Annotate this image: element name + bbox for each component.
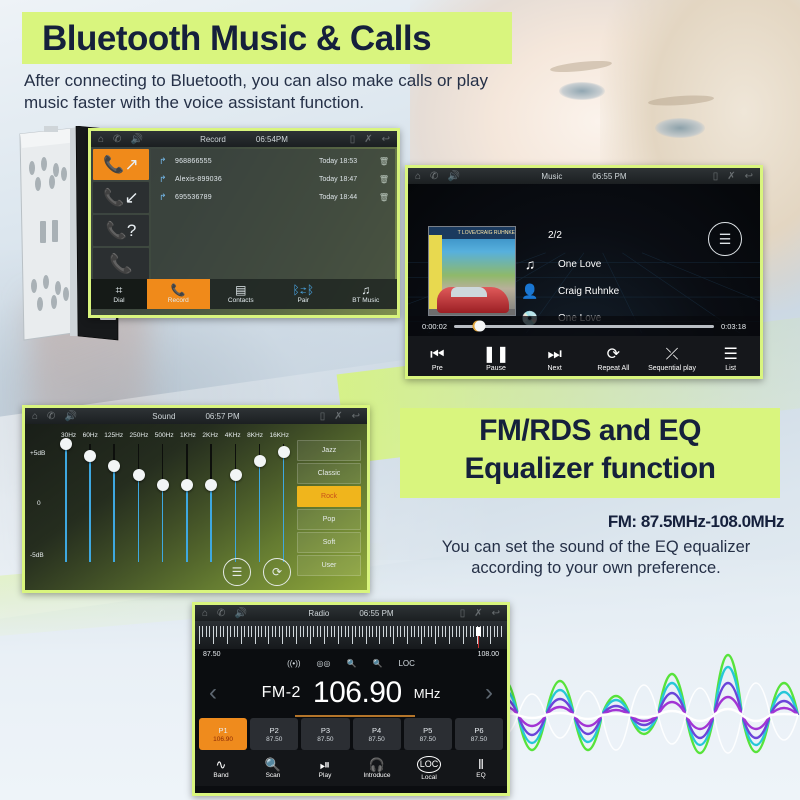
tuning-tick: [487, 626, 488, 637]
eq-slider-4khz[interactable]: [231, 444, 241, 562]
preset-p4[interactable]: P4 87.50: [353, 718, 401, 750]
phone-missed-icon: 📞?: [106, 221, 137, 241]
eq-band-label: 1KHz: [180, 432, 196, 439]
sliders-icon: ⦀: [478, 758, 484, 771]
tuning-tick: [421, 626, 422, 644]
table-row[interactable]: ↱ 695536789 Today 18:44 🗑: [151, 188, 395, 206]
eq-slider-250hz[interactable]: [134, 444, 144, 562]
preset-p4-freq: 87.50: [368, 736, 384, 743]
tuning-tick: [345, 626, 346, 637]
back-icon[interactable]: ↩: [745, 171, 753, 182]
radio-screen: ⌂ ✆ 🔊 Radio 06:55 PM ▯ ✗ ↩ 87.50 108.00 …: [192, 602, 510, 796]
eq-band-label: 4KHz: [225, 432, 241, 439]
call-record-icon: 📞: [171, 284, 186, 296]
mute-icon[interactable]: ✗: [727, 171, 735, 182]
tuning-tick: [435, 626, 436, 644]
repeat-label: Repeat All: [597, 365, 629, 372]
music-screen-time: 06:55 PM: [592, 172, 626, 181]
sound-equalizer-screen: ⌂ ✆ 🔊 Sound 06:57 PM ▯ ✗ ↩ 30Hz 60Hz 125…: [22, 405, 370, 593]
tuning-tick: [411, 626, 412, 637]
tuning-tick: [293, 626, 294, 637]
preset-p4-label: P4: [372, 726, 381, 735]
tuning-tick: [320, 626, 321, 637]
equalizer-button[interactable]: ☰: [708, 222, 742, 256]
mute-icon[interactable]: ✗: [474, 608, 482, 619]
eq-axis-max: +5dB: [30, 450, 45, 457]
equalizer-icon: ☰: [719, 231, 732, 248]
tuning-tick: [300, 626, 301, 637]
loc-icon: LOC: [417, 756, 442, 773]
tuning-tick: [355, 626, 356, 637]
tuning-tick: [213, 626, 214, 644]
frequency-range: 87.50 108.00: [195, 649, 507, 658]
freq-max: 108.00: [478, 651, 499, 658]
phone-icon[interactable]: ✆: [113, 134, 121, 145]
tuning-tick: [369, 626, 370, 637]
tuning-scale[interactable]: [195, 621, 507, 649]
battery-icon: ▯: [350, 134, 356, 145]
tuning-tick: [331, 626, 332, 637]
call-log-list: ↱ 968866555 Today 18:53 🗑 ↱ Alexis-89903…: [151, 149, 395, 279]
tuning-tick: [275, 626, 276, 637]
outgoing-calls-button[interactable]: 📞↗: [93, 149, 149, 180]
tab-bt-music[interactable]: ♫ BT Music: [335, 279, 398, 309]
tuning-tick: [223, 626, 224, 637]
freq-min: 87.50: [203, 651, 221, 658]
pause-icon: ❚❚: [483, 347, 510, 363]
search-icon: 🔍: [265, 758, 281, 771]
battery-icon: ▯: [713, 171, 719, 182]
track-counter: 2/2: [548, 230, 562, 241]
tab-dial[interactable]: ⌗ Dial: [91, 279, 147, 309]
tuning-tick: [379, 626, 380, 644]
frequency-value: 106.90: [313, 676, 402, 710]
tuning-tick: [227, 626, 228, 644]
play-pause-icon: ⏯: [320, 758, 330, 771]
eq-band-label: 125Hz: [104, 432, 123, 439]
tuning-tick: [407, 626, 408, 644]
tuning-tick: [313, 626, 314, 637]
tuning-tick: [445, 626, 446, 637]
tuning-tick: [317, 626, 318, 637]
album-art-title: T LOVE/CRAIG RUHNKE: [429, 227, 516, 239]
radio-indicator-row: ((•)) ◎◎ 🔍 🔍 LOC: [195, 659, 507, 668]
tuning-tick: [400, 626, 401, 637]
tab-contacts-label: Contacts: [228, 297, 254, 304]
tuning-tick: [424, 626, 425, 637]
radio-screen-time: 06:55 PM: [359, 609, 393, 618]
band-label: FM-2: [262, 684, 301, 702]
tuning-tick: [341, 626, 342, 637]
battery-icon: ▯: [320, 411, 326, 422]
tuning-tick: [449, 626, 450, 644]
tuning-tick: [470, 626, 471, 637]
tuning-tick: [490, 626, 491, 644]
call-number: 968866555: [175, 158, 319, 165]
tuning-tick: [289, 626, 290, 637]
preset-jazz[interactable]: Jazz: [297, 440, 361, 461]
eq-slider-1khz[interactable]: [182, 444, 192, 562]
tuning-tick: [279, 626, 280, 637]
preset-scroll-indicator: [295, 715, 415, 717]
mute-icon[interactable]: ✗: [334, 411, 342, 422]
fmrds-paragraph: You can set the sound of the EQ equalize…: [408, 537, 784, 579]
phone-icon[interactable]: ✆: [217, 608, 225, 619]
preset-p5[interactable]: P5 87.50: [404, 718, 452, 750]
tuning-tick: [199, 626, 200, 644]
eq-band-label: 500Hz: [155, 432, 174, 439]
phone-icon[interactable]: ✆: [430, 171, 438, 182]
tuning-tick: [359, 626, 360, 637]
tab-bt-music-label: BT Music: [352, 297, 379, 304]
call-filter-buttons: 📞↗ 📞↙ 📞? 📞: [91, 147, 149, 279]
background-eye-right: [655, 118, 705, 138]
tuning-tick: [431, 626, 432, 637]
tuning-tick: [251, 626, 252, 637]
artist-icon: 👤: [520, 283, 540, 300]
elapsed-time: 0:00:02: [422, 322, 447, 331]
previous-button[interactable]: ⏮ Pre: [408, 347, 467, 372]
eq-band-label: 2KHz: [202, 432, 218, 439]
music-statusbar: ⌂ ✆ 🔊 Music 06:55 PM ▯ ✗ ↩: [408, 168, 760, 184]
eq-slider-16khz[interactable]: [279, 444, 289, 562]
preset-p5-freq: 87.50: [420, 736, 436, 743]
tuning-tick: [310, 626, 311, 644]
music-note-icon: ♫: [520, 256, 540, 272]
track-title: One Love: [558, 259, 601, 270]
list-label: List: [725, 365, 736, 372]
call-time: Today 18:47: [319, 176, 377, 183]
music-note-icon: ♫: [361, 284, 370, 296]
tab-dial-label: Dial: [113, 297, 124, 304]
eq-action-buttons: ☰ ⟳: [223, 558, 291, 586]
radio-screen-title: Radio: [308, 609, 329, 618]
shuffle-icon: ⤫: [666, 347, 679, 363]
tuning-tick: [442, 626, 443, 637]
eq-slider-30hz[interactable]: [61, 444, 71, 562]
equalizer-icon: ☰: [232, 565, 243, 579]
preset-p6-label: P6: [474, 726, 483, 735]
tuning-tick: [255, 626, 256, 644]
eq-slider-60hz[interactable]: [85, 444, 95, 562]
phone-incoming-icon: 📞↙: [103, 188, 138, 208]
stereo-signal-icon: ((•)): [287, 659, 300, 668]
tuning-tick: [220, 626, 221, 637]
call-direction-icon: ↱: [159, 174, 175, 185]
call-number: 695536789: [175, 194, 319, 201]
back-icon[interactable]: ↩: [492, 608, 500, 619]
bt-tabbar: ⌗ Dial 📞 Record ▤ Contacts ᛒ⇄ᛒ Pair ♫ BT…: [91, 279, 397, 309]
home-icon[interactable]: ⌂: [32, 411, 38, 422]
bt-screen-time: 06:54PM: [256, 135, 288, 144]
tuning-tick: [327, 626, 328, 637]
band-button-label: Band: [213, 772, 228, 779]
phone-outgoing-icon: 📞↗: [103, 155, 138, 175]
tuning-tick: [268, 626, 269, 644]
tuning-tick: [459, 626, 460, 637]
list-icon: ☰: [724, 347, 738, 363]
tuning-tick: [390, 626, 391, 637]
eq-button-label: EQ: [476, 772, 485, 779]
eq-slider-125hz[interactable]: [109, 444, 119, 562]
home-icon[interactable]: ⌂: [202, 608, 208, 619]
seek-up-icon[interactable]: 🔍: [372, 659, 382, 668]
repeat-icon: ⟳: [607, 347, 620, 363]
bluetooth-heading: Bluetooth Music & Calls: [42, 18, 512, 60]
tuning-tick: [372, 626, 373, 637]
tuning-tick: [296, 626, 297, 644]
preset-p3-label: P3: [321, 726, 330, 735]
tuning-tick: [348, 626, 349, 637]
radio-statusbar: ⌂ ✆ 🔊 Radio 06:55 PM ▯ ✗ ↩: [195, 605, 507, 621]
tuning-tick: [386, 626, 387, 637]
radio-control-bar: ∿ Band 🔍 Scan ⏯ Play 🎧 Introduce LOC Loc…: [195, 750, 507, 786]
home-icon[interactable]: ⌂: [415, 171, 421, 182]
music-screen-title: Music: [541, 172, 562, 181]
battery-icon: ▯: [460, 608, 466, 619]
progress-knob[interactable]: [475, 321, 486, 332]
total-time: 0:03:18: [721, 322, 746, 331]
tuning-tick: [393, 626, 394, 644]
pause-button[interactable]: ❚❚ Pause: [467, 347, 526, 372]
shuffle-button[interactable]: ⤫ Sequential play: [643, 347, 702, 372]
delete-icon[interactable]: 🗑: [377, 193, 389, 202]
introduce-button[interactable]: 🎧 Introduce: [351, 758, 403, 779]
play-button-label: Play: [319, 772, 332, 779]
waveform-icon: ∿: [216, 758, 227, 771]
preset-p1[interactable]: P1 106.90: [199, 718, 247, 750]
tab-record-label: Record: [168, 297, 189, 304]
tuning-tick: [334, 626, 335, 637]
next-icon: ⏭: [547, 347, 561, 363]
contacts-icon: ▤: [235, 284, 246, 296]
preset-p1-label: P1: [218, 726, 227, 735]
eq-button[interactable]: ⦀ EQ: [455, 758, 507, 779]
table-row[interactable]: ↱ Alexis-899036 Today 18:47 🗑: [151, 170, 395, 188]
track-artist: Craig Ruhnke: [558, 286, 619, 297]
preset-p6[interactable]: P6 87.50: [455, 718, 503, 750]
tuning-tick: [303, 626, 304, 637]
previous-label: Pre: [432, 365, 443, 372]
track-title-row: ♫ One Love: [520, 256, 601, 272]
eq-band-labels: 30Hz 60Hz 125Hz 250Hz 500Hz 1KHz 2KHz 4K…: [61, 432, 289, 439]
eq-band-label: 250Hz: [130, 432, 149, 439]
tuning-tick: [452, 626, 453, 637]
sound-screen-title: Sound: [152, 412, 175, 421]
prev-station-button[interactable]: ‹: [209, 679, 217, 707]
home-icon[interactable]: ⌂: [98, 134, 104, 145]
eq-band-label: 8KHz: [247, 432, 263, 439]
tab-contacts[interactable]: ▤ Contacts: [210, 279, 273, 309]
play-button[interactable]: ⏯ Play: [299, 758, 351, 779]
preset-p5-label: P5: [423, 726, 432, 735]
fmrds-heading-line1: FM/RDS and EQ: [400, 412, 780, 450]
tuning-tick: [265, 626, 266, 637]
mute-icon[interactable]: ✗: [364, 134, 372, 145]
tuning-tick: [466, 626, 467, 637]
preset-user[interactable]: User: [297, 555, 361, 576]
missed-calls-button[interactable]: 📞?: [93, 215, 149, 246]
tuning-cursor[interactable]: [476, 622, 481, 648]
tuning-tick: [282, 626, 283, 644]
tab-record[interactable]: 📞 Record: [147, 279, 210, 309]
tuning-tick: [248, 626, 249, 637]
preset-p2[interactable]: P2 87.50: [250, 718, 298, 750]
loc-label: LOC: [398, 659, 414, 668]
tab-pair[interactable]: ᛒ⇄ᛒ Pair: [272, 279, 335, 309]
back-icon[interactable]: ↩: [382, 134, 390, 145]
list-button[interactable]: ☰ List: [701, 347, 760, 372]
tuning-tick: [418, 626, 419, 637]
answer-call-button[interactable]: 📞: [93, 248, 149, 279]
tuning-tick: [324, 626, 325, 644]
call-direction-icon: ↱: [159, 192, 175, 203]
volume-icon[interactable]: 🔊: [447, 171, 459, 182]
next-station-button[interactable]: ›: [485, 679, 493, 707]
local-button-label: Local: [421, 774, 437, 781]
delete-icon[interactable]: 🗑: [377, 157, 389, 166]
track-artist-row: 👤 Craig Ruhnke: [520, 283, 619, 300]
call-time: Today 18:53: [319, 158, 377, 165]
eq-preset-list: Jazz Classic Rock Pop Soft User: [297, 440, 361, 578]
preset-rock[interactable]: Rock: [297, 486, 361, 507]
eq-band-label: 16KHz: [269, 432, 289, 439]
fm-range-spec: FM: 87.5MHz-108.0MHz: [400, 512, 784, 532]
tuning-tick: [258, 626, 259, 637]
call-number: Alexis-899036: [175, 176, 319, 183]
progress-track[interactable]: [454, 325, 714, 328]
bluetooth-pair-icon: ᛒ⇄ᛒ: [292, 284, 314, 296]
preset-p2-label: P2: [270, 726, 279, 735]
back-icon[interactable]: ↩: [352, 411, 360, 422]
scan-button-label: Scan: [266, 772, 281, 779]
seek-down-icon[interactable]: 🔍: [347, 659, 357, 668]
tuning-tick: [234, 626, 235, 637]
sound-statusbar: ⌂ ✆ 🔊 Sound 06:57 PM ▯ ✗ ↩: [25, 408, 367, 424]
preset-p3-freq: 87.50: [317, 736, 333, 743]
tuning-tick: [202, 626, 203, 637]
audio-waveform-graphic: [490, 585, 800, 800]
eq-slider-500hz[interactable]: [158, 444, 168, 562]
band-button[interactable]: ∿ Band: [195, 758, 247, 779]
tuning-tick: [244, 626, 245, 637]
tuning-tick: [261, 626, 262, 637]
delete-icon[interactable]: 🗑: [377, 175, 389, 184]
tuning-tick: [414, 626, 415, 637]
tab-pair-label: Pair: [297, 297, 309, 304]
phone-answer-icon: 📞: [109, 252, 133, 276]
tuning-tick: [483, 626, 484, 637]
scan-button[interactable]: 🔍 Scan: [247, 758, 299, 779]
equalizer-settings-button[interactable]: ☰: [223, 558, 251, 586]
background-eye-left: [559, 82, 605, 100]
preset-p2-freq: 87.50: [266, 736, 282, 743]
call-direction-icon: ↱: [159, 156, 175, 167]
volume-icon[interactable]: 🔊: [130, 134, 142, 145]
tuning-tick: [352, 626, 353, 644]
preset-p3[interactable]: P3 87.50: [301, 718, 349, 750]
eq-slider-2khz[interactable]: [206, 444, 216, 562]
tuning-tick: [230, 626, 231, 637]
tuning-tick: [209, 626, 210, 637]
music-control-bar: ⏮ Pre ❚❚ Pause ⏭ Next ⟳ Repeat All ⤫ Seq…: [408, 336, 760, 379]
next-button[interactable]: ⏭ Next: [525, 347, 584, 372]
eq-axis-zero: 0: [37, 500, 41, 507]
tuning-tick: [397, 626, 398, 637]
preset-p1-freq: 106.90: [213, 736, 233, 743]
music-player-screen: ⌂ ✆ 🔊 Music 06:55 PM ▯ ✗ ↩ T LOVE/CRAIG …: [405, 165, 763, 379]
preset-row: P1 106.90 P2 87.50 P3 87.50 P4 87.50 P5 …: [195, 718, 507, 750]
tuning-tick: [473, 626, 474, 637]
album-art: T LOVE/CRAIG RUHNKE: [428, 226, 516, 316]
eq-sliders: [61, 444, 289, 562]
next-label: Next: [547, 365, 561, 372]
preset-classic[interactable]: Classic: [297, 463, 361, 484]
tuning-tick: [501, 626, 502, 637]
tuning-tick: [383, 626, 384, 637]
stereo-icon: ◎◎: [317, 659, 331, 668]
incoming-calls-button[interactable]: 📞↙: [93, 182, 149, 213]
bt-screen-title: Record: [200, 135, 226, 144]
eq-band-label: 60Hz: [83, 432, 98, 439]
reset-icon: ⟳: [272, 565, 282, 579]
preset-pop[interactable]: Pop: [297, 509, 361, 530]
eq-slider-8khz[interactable]: [255, 444, 265, 562]
tuning-tick: [216, 626, 217, 637]
pause-label: Pause: [486, 365, 506, 372]
tuning-tick: [463, 626, 464, 644]
table-row[interactable]: ↱ 968866555 Today 18:53 🗑: [151, 152, 395, 170]
tuning-tick: [438, 626, 439, 637]
volume-icon[interactable]: 🔊: [234, 608, 246, 619]
tuning-tick: [376, 626, 377, 637]
tuning-tick: [366, 626, 367, 644]
local-button[interactable]: LOC Local: [403, 756, 455, 781]
tuning-tick: [338, 626, 339, 644]
tuning-tick: [497, 626, 498, 637]
repeat-button[interactable]: ⟳ Repeat All: [584, 347, 643, 372]
progress-bar-container[interactable]: 0:00:02 0:03:18: [408, 316, 760, 336]
fmrds-heading-line2: Equalizer function: [400, 450, 780, 488]
reset-button[interactable]: ⟳: [263, 558, 291, 586]
tuning-tick: [362, 626, 363, 637]
call-time: Today 18:44: [319, 194, 377, 201]
headphones-icon: 🎧: [369, 758, 385, 771]
eq-axis-min: -5dB: [30, 552, 44, 559]
tuning-tick: [237, 626, 238, 637]
bluetooth-paragraph: After connecting to Bluetooth, you can a…: [24, 70, 519, 114]
tuning-tick: [272, 626, 273, 637]
tuning-tick: [286, 626, 287, 637]
keypad-icon: ⌗: [116, 284, 123, 296]
introduce-button-label: Introduce: [363, 772, 390, 779]
tuning-tick: [456, 626, 457, 637]
volume-icon[interactable]: 🔊: [64, 411, 76, 422]
preset-soft[interactable]: Soft: [297, 532, 361, 553]
phone-icon[interactable]: ✆: [47, 411, 55, 422]
tuning-tick: [307, 626, 308, 637]
frequency-display: ‹ FM-2 106.90 MHz ›: [195, 668, 507, 718]
bt-statusbar: ⌂ ✆ 🔊 Record 06:54PM ▯ ✗ ↩: [91, 131, 397, 147]
previous-icon: ⏮: [430, 347, 444, 363]
bluetooth-call-screen: ⌂ ✆ 🔊 Record 06:54PM ▯ ✗ ↩ 📞↗ 📞↙ 📞?: [88, 128, 400, 318]
sound-screen-time: 06:57 PM: [205, 412, 239, 421]
frequency-unit: MHz: [414, 686, 441, 701]
tuning-tick: [428, 626, 429, 637]
album-art-car-window: [451, 287, 487, 297]
shuffle-label: Sequential play: [648, 365, 696, 372]
tuning-tick: [206, 626, 207, 637]
